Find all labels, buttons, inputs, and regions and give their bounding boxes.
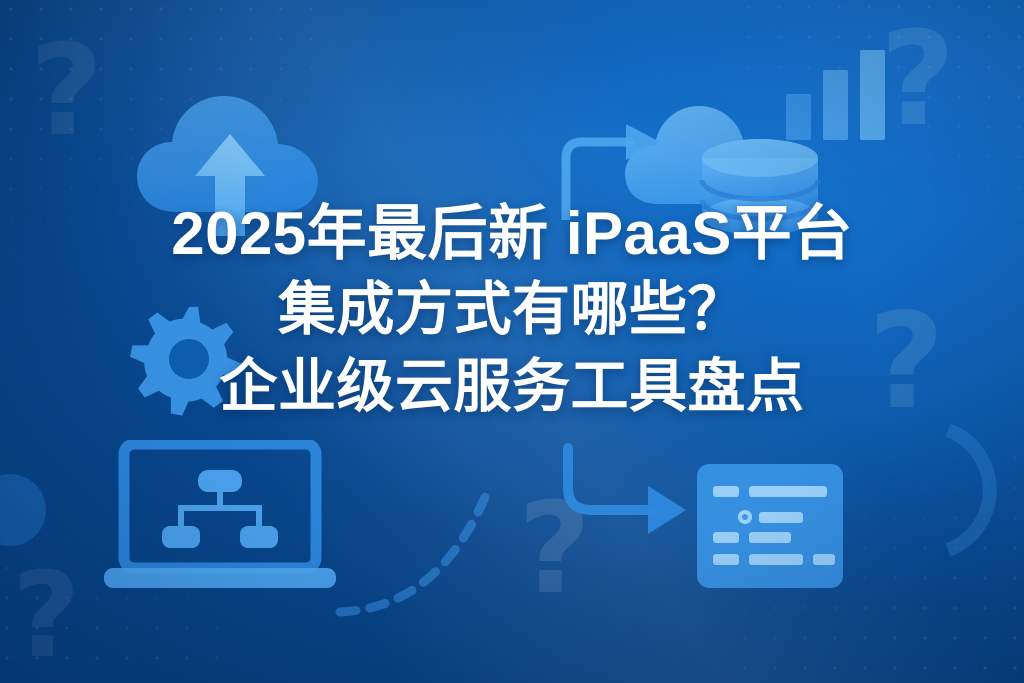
cover-image: ? ? ? ? ? [0, 0, 1024, 683]
title-line-2: 集成方式有哪些？ [0, 272, 1024, 348]
title-line-1: 2025年最后新 iPaaS平台 [0, 196, 1024, 272]
page-title: 2025年最后新 iPaaS平台 集成方式有哪些？ 企业级云服务工具盘点 [0, 196, 1024, 426]
title-line-3: 企业级云服务工具盘点 [0, 348, 1024, 426]
